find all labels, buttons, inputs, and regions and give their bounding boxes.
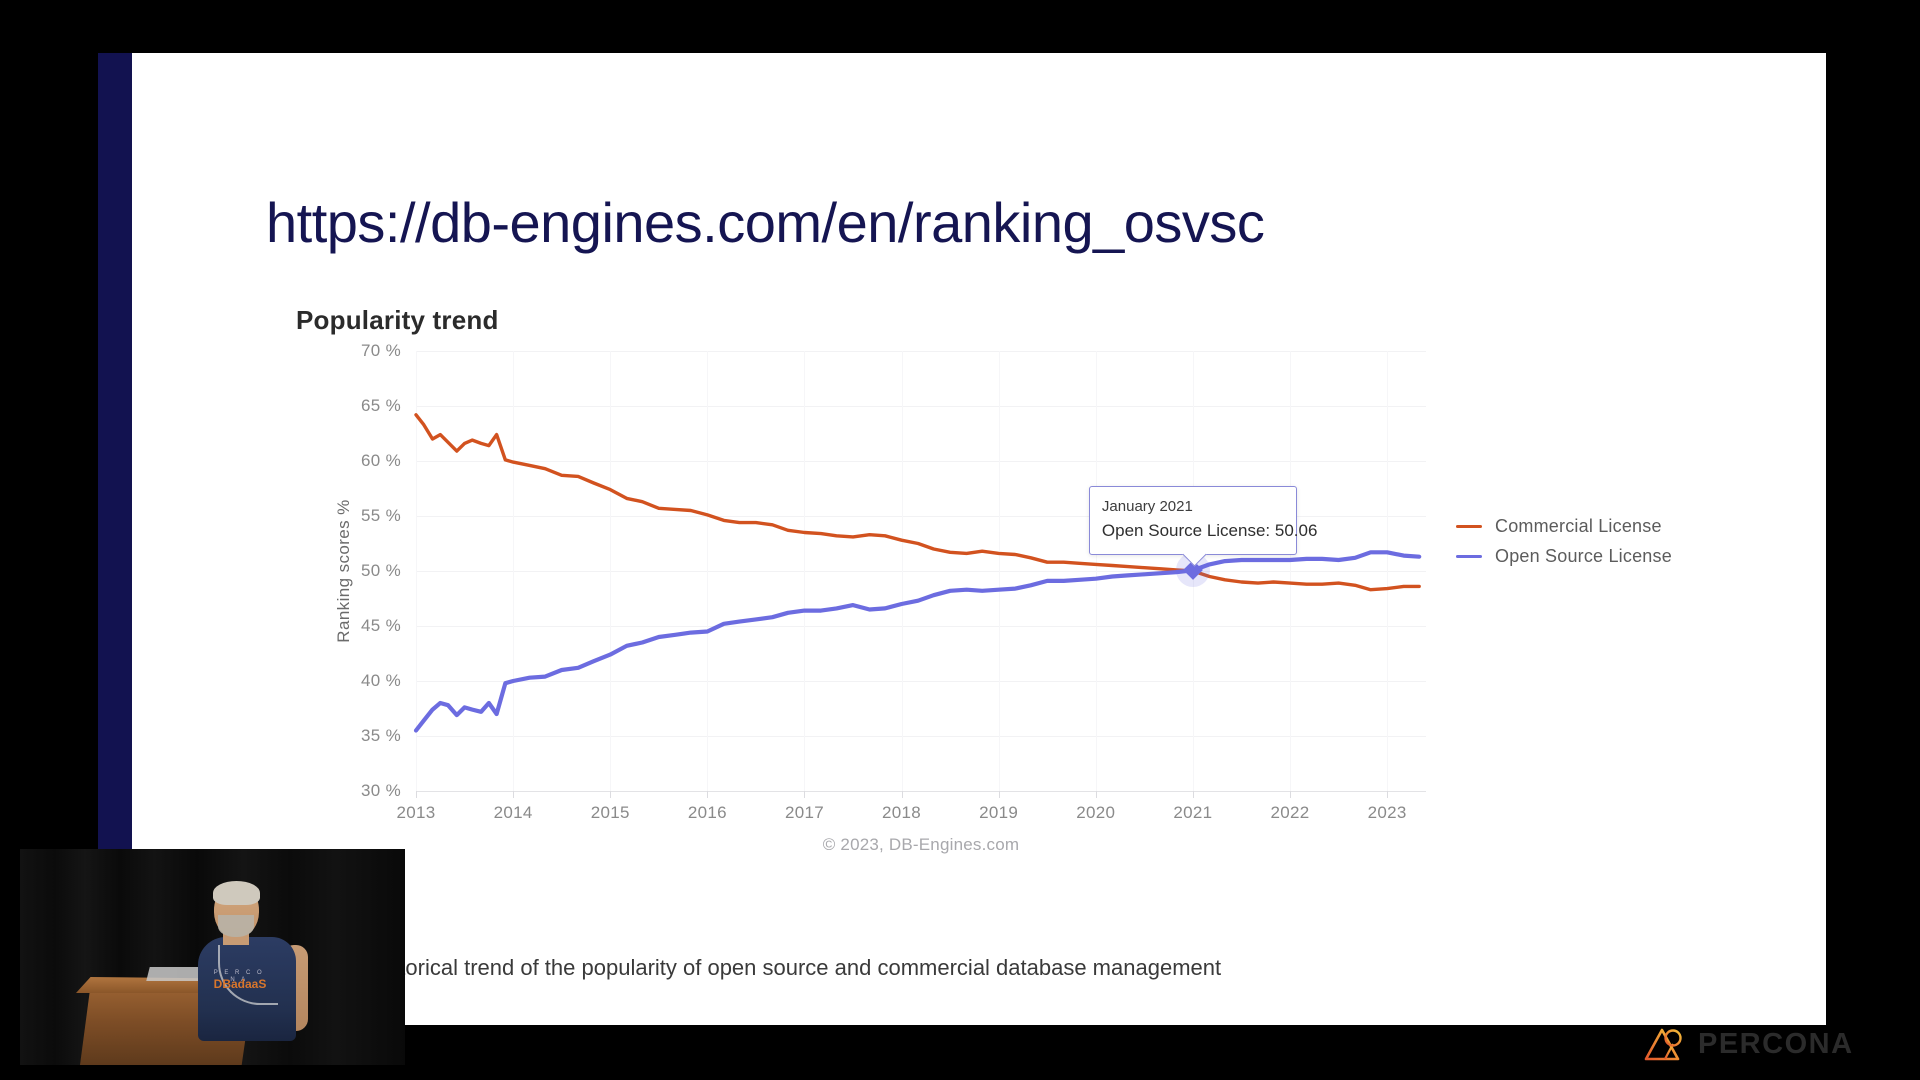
speaker-beard (218, 915, 254, 937)
x-axis-tickmark (1193, 791, 1194, 798)
speaker-webcam-overlay[interactable]: P E R C O N A DBadaaS (20, 849, 405, 1065)
x-axis-tickmark (804, 791, 805, 798)
y-axis-tick-label: 45 % (316, 616, 401, 636)
x-axis-tickmark (902, 791, 903, 798)
chart-tooltip: January 2021 Open Source License: 50.06 (1089, 486, 1297, 555)
tooltip-value: Open Source License: 50.06 (1102, 519, 1284, 544)
x-axis-tickmark (1096, 791, 1097, 798)
line-open-source-license (416, 552, 1419, 730)
screen-root: https://db-engines.com/en/ranking_osvsc … (0, 0, 1920, 1080)
chart-heading: Popularity trend (296, 305, 499, 336)
x-axis-tick-label: 2016 (688, 803, 727, 823)
x-axis-tickmark (513, 791, 514, 798)
legend-item-open-source-license[interactable]: Open Source License (1456, 541, 1672, 571)
legend-item-commercial-license[interactable]: Commercial License (1456, 511, 1672, 541)
y-axis-tick-label: 55 % (316, 506, 401, 526)
legend-label-commercial: Commercial License (1495, 516, 1662, 537)
chart-credit: © 2023, DB-Engines.com (416, 835, 1426, 855)
x-axis-tickmark (707, 791, 708, 798)
popularity-trend-chart: Popularity trend Ranking scores % 30 %35… (266, 293, 1826, 933)
x-axis-tick-label: 2017 (785, 803, 824, 823)
y-axis-tick-label: 50 % (316, 561, 401, 581)
x-axis-tick-label: 2020 (1076, 803, 1115, 823)
percona-logo: PERCONA (1643, 1025, 1854, 1063)
legend-swatch-open-source (1456, 555, 1482, 558)
x-axis-tick-label: 2013 (396, 803, 435, 823)
chart-legend: Commercial License Open Source License (1456, 511, 1672, 571)
x-axis-tickmark (1290, 791, 1291, 798)
x-axis-tick-label: 2018 (882, 803, 921, 823)
chart-plot-wrapper: Ranking scores % 30 %35 %40 %45 %50 %55 … (266, 351, 1826, 871)
slide-body-text: shows the historical trend of the popula… (266, 953, 1726, 984)
y-axis-tick-label: 40 % (316, 671, 401, 691)
y-axis-tick-label: 30 % (316, 781, 401, 801)
x-axis-tick-label: 2014 (494, 803, 533, 823)
percona-wordmark: PERCONA (1698, 1028, 1854, 1061)
tooltip-date: January 2021 (1102, 496, 1284, 519)
page-title: https://db-engines.com/en/ranking_osvsc (266, 194, 1766, 253)
x-axis-tickmark (999, 791, 1000, 798)
x-axis-tick-label: 2022 (1271, 803, 1310, 823)
laptop-on-podium (146, 967, 205, 981)
y-axis-tick-label: 70 % (316, 341, 401, 361)
x-axis-tickmark (416, 791, 417, 798)
y-axis-tick-label: 65 % (316, 396, 401, 416)
chart-plot-area (416, 351, 1426, 791)
x-axis-tick-label: 2015 (591, 803, 630, 823)
shirt-slogan-text: DBadaaS (209, 978, 271, 991)
x-axis-line (416, 791, 1426, 792)
percona-mark-icon (1643, 1025, 1689, 1063)
series-lines (416, 351, 1426, 791)
y-axis-tick-label: 60 % (316, 451, 401, 471)
shirt-brand-text: P E R C O N A (213, 970, 265, 977)
x-axis-tick-label: 2019 (979, 803, 1018, 823)
x-axis-tick-label: 2021 (1173, 803, 1212, 823)
legend-label-open-source: Open Source License (1495, 546, 1672, 567)
x-axis-tickmark (610, 791, 611, 798)
speaker-hair (213, 881, 260, 905)
x-axis-tickmark (1387, 791, 1388, 798)
x-axis-tick-label: 2023 (1368, 803, 1407, 823)
legend-swatch-commercial (1456, 525, 1482, 528)
y-axis-tick-label: 35 % (316, 726, 401, 746)
